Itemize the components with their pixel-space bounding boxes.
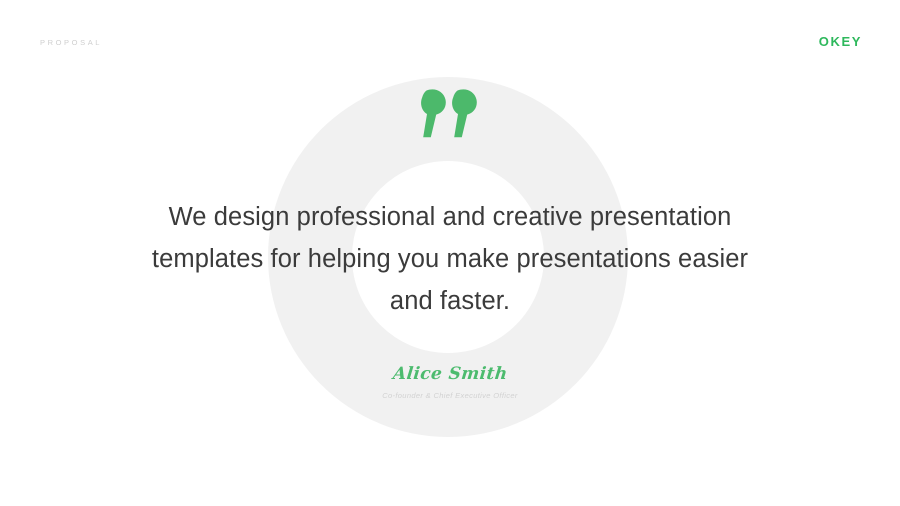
author-name: Alice Smith xyxy=(391,362,508,386)
quote-slide: PROPOSAL OKEY We design professional and… xyxy=(0,0,900,506)
author-role: Co-founder & Chief Executive Officer xyxy=(0,390,900,402)
quote-line: and faster. xyxy=(0,280,900,322)
slide-section-label: PROPOSAL xyxy=(40,36,102,50)
quote-text: We design professional and creative pres… xyxy=(0,196,900,322)
quote-line: templates for helping you make presentat… xyxy=(0,238,900,280)
quote-line: We design professional and creative pres… xyxy=(0,196,900,238)
quotation-mark-icon xyxy=(0,88,900,140)
brand-logo: OKEY xyxy=(819,34,862,50)
quote-attribution: Alice Smith Co-founder & Chief Executive… xyxy=(0,362,900,402)
